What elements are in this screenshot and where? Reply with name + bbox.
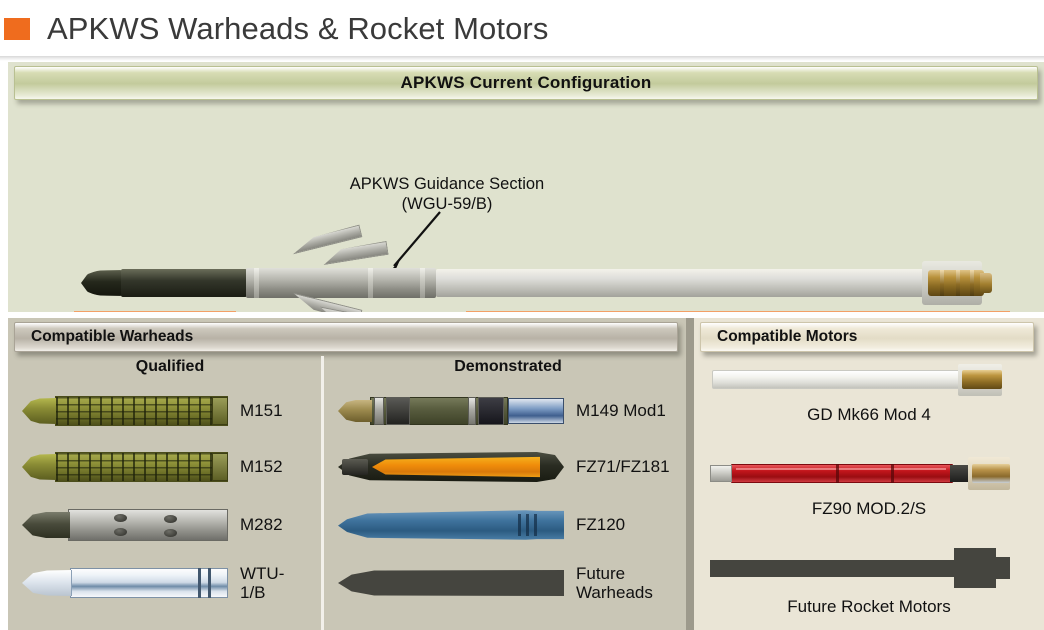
motors-banner: Compatible Motors xyxy=(700,322,1034,352)
motor-row[interactable]: GD Mk66 Mod 4 xyxy=(706,362,1032,425)
motors-banner-label: Compatible Motors xyxy=(717,328,857,346)
rocket-motor-body xyxy=(436,269,926,297)
motor-label: GD Mk66 Mod 4 xyxy=(706,405,1032,425)
column-divider xyxy=(321,356,324,630)
warhead-image-m149-mod1 xyxy=(338,397,564,425)
apkws-rocket-diagram xyxy=(68,257,1018,312)
warhead-row[interactable]: M152 xyxy=(22,440,318,494)
nozzle-ring-2 xyxy=(956,270,960,296)
warhead-row[interactable]: WTU- 1/B xyxy=(22,556,318,610)
warhead-row[interactable]: M151 xyxy=(22,384,318,438)
motor-row[interactable]: FZ90 MOD.2/S xyxy=(706,456,1032,519)
page-title-bar: APKWS Warheads & Rocket Motors xyxy=(0,0,1044,58)
warhead-label: WTU- 1/B xyxy=(240,564,284,602)
rocket-nozzle-tip xyxy=(980,273,992,293)
accent-bar-right xyxy=(466,311,1010,312)
title-accent-marker xyxy=(4,18,30,40)
warhead-row[interactable]: M282 xyxy=(22,498,318,552)
warhead-label: FZ120 xyxy=(576,515,625,534)
warhead-image-fz71-fz181 xyxy=(338,452,564,482)
current-configuration-panel: APKWS Current Configuration APKWS Guidan… xyxy=(8,62,1044,312)
callout-line-1: APKWS Guidance Section xyxy=(320,174,574,194)
compatible-warheads-panel: Compatible Warheads Qualified Demonstrat… xyxy=(8,318,686,630)
warhead-row[interactable]: Future Warheads xyxy=(338,556,686,610)
warhead-row[interactable]: FZ120 xyxy=(338,498,686,552)
motor-label: FZ90 MOD.2/S xyxy=(706,499,1032,519)
warheads-banner-label: Compatible Warheads xyxy=(31,328,193,346)
rocket-nose-cone xyxy=(81,270,124,296)
warhead-label: M282 xyxy=(240,515,283,534)
warhead-image-m152 xyxy=(22,452,228,482)
warhead-label: M149 Mod1 xyxy=(576,401,666,420)
compatible-motors-panel: Compatible Motors GD Mk66 Mod 4 FZ90 MOD… xyxy=(694,318,1044,630)
warheads-banner: Compatible Warheads xyxy=(14,322,678,352)
column-heading-qualified: Qualified xyxy=(22,358,318,376)
guidance-band-1 xyxy=(254,268,259,298)
config-banner: APKWS Current Configuration xyxy=(14,66,1038,100)
guidance-band-2 xyxy=(368,268,373,298)
panel-separator xyxy=(686,318,694,630)
warhead-image-fz120 xyxy=(338,509,564,541)
motor-row[interactable]: Future Rocket Motors xyxy=(706,548,1032,617)
accent-bar-left xyxy=(74,311,236,312)
warhead-row[interactable]: FZ71/FZ181 xyxy=(338,440,686,494)
page-title: APKWS Warheads & Rocket Motors xyxy=(47,11,548,47)
guidance-band-3 xyxy=(420,268,425,298)
nozzle-ring-3 xyxy=(970,270,974,296)
warhead-label: M152 xyxy=(240,457,283,476)
warhead-label: Future Warheads xyxy=(576,564,653,602)
warhead-image-wtu-1b xyxy=(22,568,228,598)
column-heading-demonstrated: Demonstrated xyxy=(330,358,686,376)
motor-image-fz90-mod2s xyxy=(706,456,1032,490)
warhead-row[interactable]: M149 Mod1 xyxy=(338,384,686,438)
motor-image-gd-mk66-mod4 xyxy=(706,362,1032,396)
warhead-label: M151 xyxy=(240,401,283,420)
rocket-guidance-section xyxy=(246,268,436,298)
motor-image-future xyxy=(706,548,1032,588)
motor-label: Future Rocket Motors xyxy=(706,597,1032,617)
rocket-warhead-section xyxy=(121,269,247,297)
title-divider xyxy=(0,56,1044,61)
guidance-section-callout: APKWS Guidance Section (WGU-59/B) xyxy=(320,174,574,214)
warhead-image-m282 xyxy=(22,509,228,541)
nozzle-ring-1 xyxy=(940,270,944,296)
warhead-label: FZ71/FZ181 xyxy=(576,457,670,476)
warhead-image-future xyxy=(338,570,564,596)
warhead-image-m151 xyxy=(22,396,228,426)
config-banner-label: APKWS Current Configuration xyxy=(401,73,652,93)
